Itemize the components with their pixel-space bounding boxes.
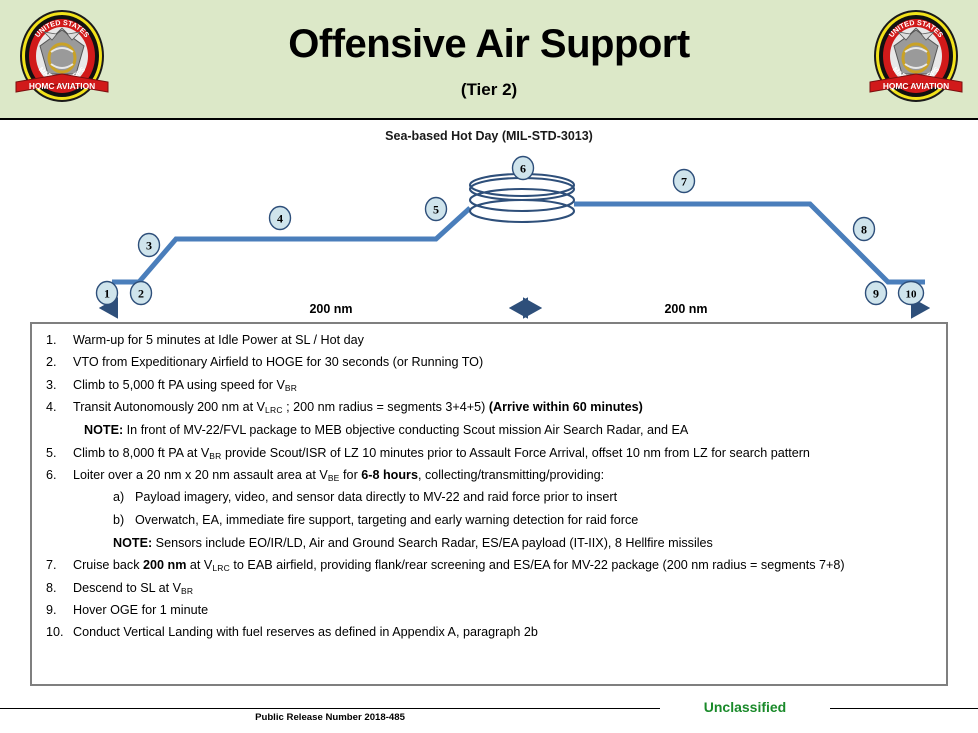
usmc-seal-right-icon: UNITED STATES MARINE CORPS HQMC AVIATION xyxy=(864,8,968,112)
step-text: Loiter over a 20 nm x 20 nm assault area… xyxy=(73,468,604,482)
step-number: 4. xyxy=(46,399,70,417)
step-item: 6.Loiter over a 20 nm x 20 nm assault ar… xyxy=(40,467,936,553)
marker-label: 2 xyxy=(138,286,144,300)
step-text: Transit Autonomously 200 nm at VLRC ; 20… xyxy=(73,400,643,414)
mission-profile-step-list: 1.Warm-up for 5 minutes at Idle Power at… xyxy=(30,322,948,686)
profile-marker-9: 9 xyxy=(866,282,887,305)
emphasis-text: 6-8 hours xyxy=(361,468,418,482)
step-note: NOTE: In front of MV-22/FVL package to M… xyxy=(73,422,936,440)
marker-label: 6 xyxy=(520,161,526,175)
step-item: 10.Conduct Vertical Landing with fuel re… xyxy=(40,624,936,642)
profile-marker-2: 2 xyxy=(131,282,152,305)
profile-marker-3: 3 xyxy=(139,234,160,257)
step-number: 5. xyxy=(46,445,70,463)
svg-text:HQMC AVIATION: HQMC AVIATION xyxy=(883,81,949,91)
step-text: Conduct Vertical Landing with fuel reser… xyxy=(73,625,538,639)
slide-header: UNITED STATES MARINE CORPS HQMC AVIATION… xyxy=(0,0,978,120)
emphasis-text: 200 nm xyxy=(143,558,186,572)
speed-subscript: BR xyxy=(209,451,221,461)
step-subitem: a)Payload imagery, video, and sensor dat… xyxy=(113,489,936,507)
dimension-label-right: 200 nm xyxy=(664,302,707,316)
profile-marker-7: 7 xyxy=(674,170,695,193)
mission-profile-diagram: Sea-based Hot Day (MIL-STD-3013) xyxy=(0,122,978,320)
step-item: 3.Climb to 5,000 ft PA using speed for V… xyxy=(40,377,936,395)
step-number: 8. xyxy=(46,580,70,598)
flight-profile-path xyxy=(112,204,925,282)
note-label: NOTE: xyxy=(113,536,152,550)
marker-label: 1 xyxy=(104,286,110,300)
marker-label: 9 xyxy=(873,286,879,300)
step-item: 2.VTO from Expeditionary Airfield to HOG… xyxy=(40,354,936,372)
marker-label: 4 xyxy=(277,211,283,225)
step-item: 9.Hover OGE for 1 minute xyxy=(40,602,936,620)
subitem-label: a) xyxy=(113,489,124,507)
profile-marker-1: 1 xyxy=(97,282,118,305)
profile-marker-6: 6 xyxy=(513,157,534,180)
step-item: 7.Cruise back 200 nm at VLRC to EAB airf… xyxy=(40,557,936,575)
profile-marker-4: 4 xyxy=(270,207,291,230)
step-sublist: a)Payload imagery, video, and sensor dat… xyxy=(73,489,936,530)
step-text: Cruise back 200 nm at VLRC to EAB airfie… xyxy=(73,558,845,572)
step-item: 4.Transit Autonomously 200 nm at VLRC ; … xyxy=(40,399,936,440)
step-text: Climb to 8,000 ft PA at VBR provide Scou… xyxy=(73,446,810,460)
slide-footer: Public Release Number 2018-485 Unclassif… xyxy=(0,686,978,733)
footer-rule-left xyxy=(0,708,660,709)
classification-marking: Unclassified xyxy=(660,699,830,715)
page-title: Offensive Air Support xyxy=(0,22,978,67)
step-item: 5.Climb to 8,000 ft PA at VBR provide Sc… xyxy=(40,445,936,463)
footer-rule-right xyxy=(830,708,978,709)
marker-label: 10 xyxy=(906,288,918,300)
dimension-arrows: 200 nm 200 nm xyxy=(118,299,911,317)
dimension-label-left: 200 nm xyxy=(309,302,352,316)
step-text: VTO from Expeditionary Airfield to HOGE … xyxy=(73,355,483,369)
step-note: NOTE: Sensors include EO/IR/LD, Air and … xyxy=(73,535,936,553)
step-number: 2. xyxy=(46,354,70,372)
marker-label: 3 xyxy=(146,238,152,252)
profile-marker-10: 10 xyxy=(899,282,924,305)
marker-label: 5 xyxy=(433,202,439,216)
profile-marker-5: 5 xyxy=(426,198,447,221)
note-label: NOTE: xyxy=(84,423,123,437)
speed-subscript: LRC xyxy=(265,405,283,415)
speed-subscript: BE xyxy=(328,473,340,483)
profile-marker-8: 8 xyxy=(854,218,875,241)
step-item: 1.Warm-up for 5 minutes at Idle Power at… xyxy=(40,332,936,350)
diagram-caption: Sea-based Hot Day (MIL-STD-3013) xyxy=(0,129,978,143)
profile-line-chart: 200 nm 200 nm 12345678910 xyxy=(0,122,978,320)
marker-label: 7 xyxy=(681,174,687,188)
step-text: Hover OGE for 1 minute xyxy=(73,603,208,617)
speed-subscript: BR xyxy=(181,586,193,596)
step-item: 8.Descend to SL at VBR xyxy=(40,580,936,598)
subitem-label: b) xyxy=(113,512,124,530)
emphasis-text: (Arrive within 60 minutes) xyxy=(489,400,643,414)
speed-subscript: LRC xyxy=(212,563,230,573)
loiter-spiral-icon xyxy=(470,174,574,222)
step-number: 10. xyxy=(46,624,70,642)
step-number: 3. xyxy=(46,377,70,395)
marker-label: 8 xyxy=(861,222,867,236)
page-subtitle: (Tier 2) xyxy=(0,80,978,100)
step-subitem: b)Overwatch, EA, immediate fire support,… xyxy=(113,512,936,530)
step-number: 1. xyxy=(46,332,70,350)
step-number: 9. xyxy=(46,602,70,620)
step-text: Climb to 5,000 ft PA using speed for VBR xyxy=(73,378,297,392)
step-text: Descend to SL at VBR xyxy=(73,581,193,595)
public-release-number: Public Release Number 2018-485 xyxy=(0,712,660,723)
step-text: Warm-up for 5 minutes at Idle Power at S… xyxy=(73,333,364,347)
step-number: 7. xyxy=(46,557,70,575)
speed-subscript: BR xyxy=(285,383,297,393)
step-number: 6. xyxy=(46,467,70,485)
